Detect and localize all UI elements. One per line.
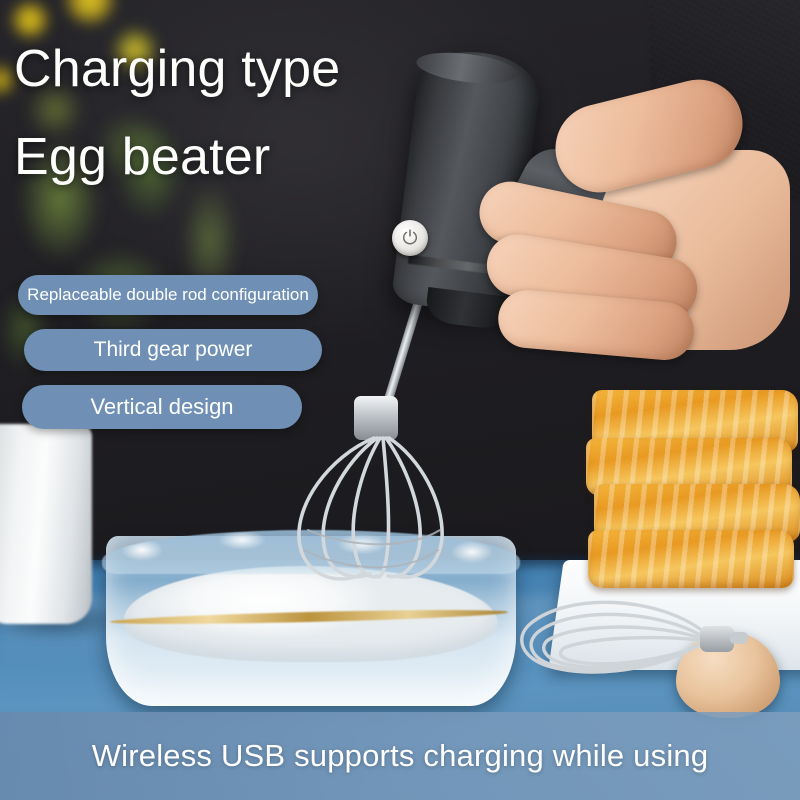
headline: Charging type Egg beater bbox=[14, 40, 340, 186]
feature-pill: Third gear power bbox=[24, 329, 322, 371]
headline-line-2: Egg beater bbox=[14, 128, 340, 186]
product-marketing-image: ⏻ Charging type Egg beater Replaceable d… bbox=[0, 0, 800, 800]
power-button-icon[interactable]: ⏻ bbox=[392, 220, 428, 256]
toast-stack bbox=[592, 390, 800, 590]
headline-line-1: Charging type bbox=[14, 40, 340, 98]
feature-pill: Vertical design bbox=[22, 385, 302, 429]
white-planter-pot bbox=[0, 424, 92, 624]
banner-text: Wireless USB supports charging while usi… bbox=[92, 738, 709, 774]
toast-slice bbox=[588, 530, 794, 588]
spare-whisk bbox=[508, 588, 748, 698]
bottom-banner: Wireless USB supports charging while usi… bbox=[0, 712, 800, 800]
feature-pill: Replaceable double rod configuration bbox=[18, 275, 318, 315]
feature-pill-list: Replaceable double rod configuration Thi… bbox=[18, 275, 322, 429]
